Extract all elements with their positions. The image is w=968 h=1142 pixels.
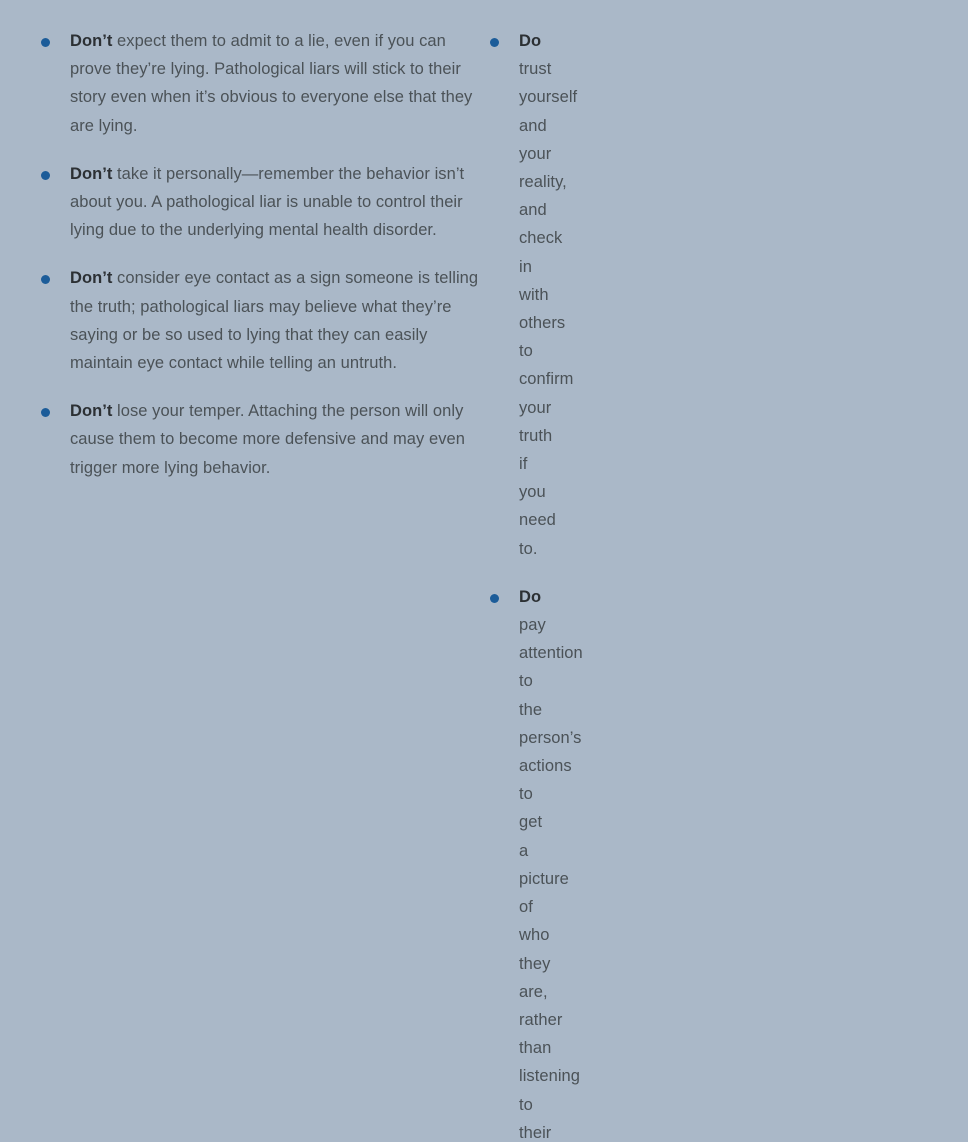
list-item-lead: Don’t [70,402,112,420]
list-item-lead: Do [519,32,541,50]
list-item: Don’t expect them to admit to a lie, eve… [41,27,480,140]
list-item-text: lose your temper. Attaching the person w… [70,402,465,476]
bullet-dot-icon [41,408,50,417]
list-item-lead: Don’t [70,32,112,50]
list-item-text: trust yourself and your reality, and che… [519,60,577,557]
list-item: Don’t lose your temper. Attaching the pe… [41,397,480,482]
list-item: Don’t consider eye contact as a sign som… [41,264,480,377]
bullet-dot-icon [41,171,50,180]
list-item-text: consider eye contact as a sign someone i… [70,269,478,372]
list-item-text: expect them to admit to a lie, even if y… [70,32,472,135]
list-item-lead: Don’t [70,165,112,183]
list-item-text: take it personally—remember the behavior… [70,165,464,239]
list-item-lead: Don’t [70,269,112,287]
list-item: Do trust yourself and your reality, and … [490,27,519,563]
bullet-dot-icon [490,594,499,603]
list-item-text: pay attention to the person’s actions to… [519,616,587,1142]
list-item: Do pay attention to the person’s actions… [490,583,519,1142]
list-item-lead: Do [519,588,541,606]
list-item: Don’t take it personally—remember the be… [41,160,480,245]
bullet-dot-icon [41,275,50,284]
dos-and-donts-panel: Don’t expect them to admit to a lie, eve… [0,0,968,571]
bullet-dot-icon [41,38,50,47]
bullet-dot-icon [490,38,499,47]
